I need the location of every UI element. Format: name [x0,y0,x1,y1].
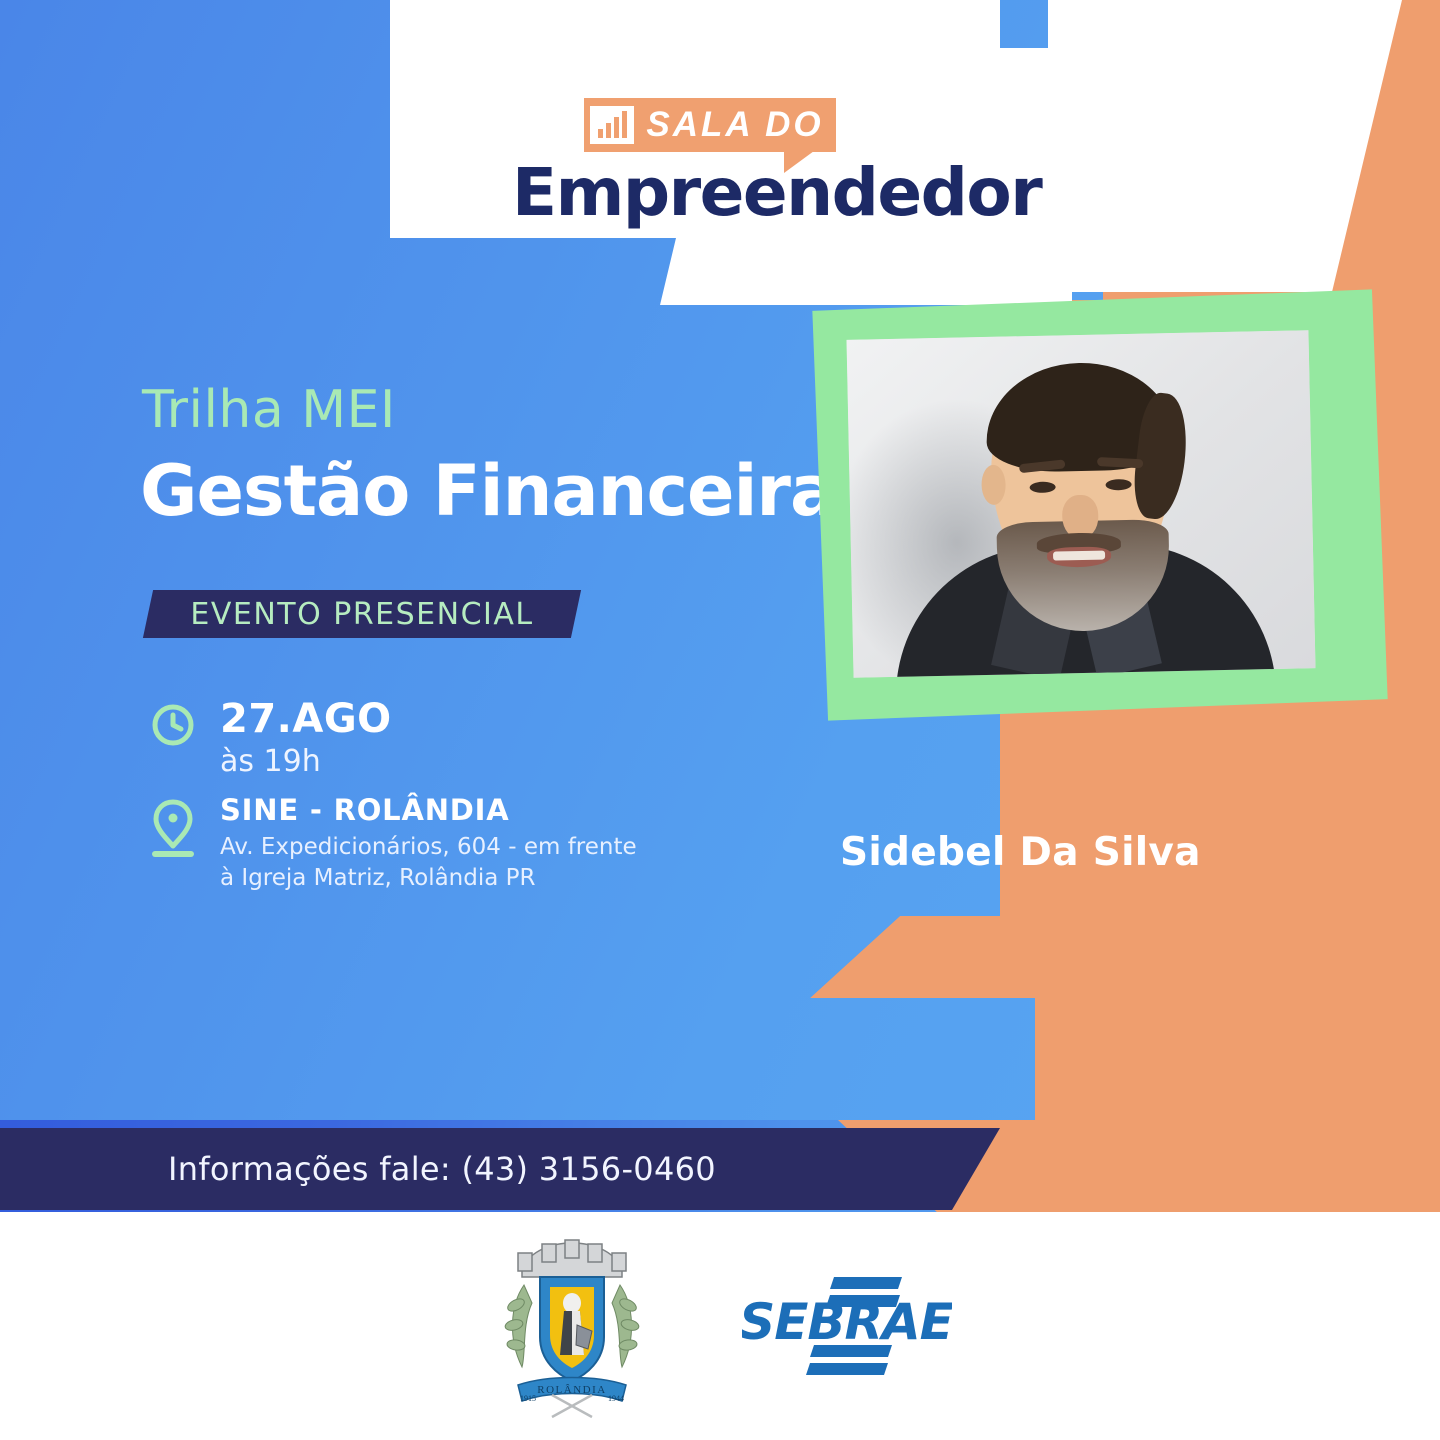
svg-text:ROLÂNDIA: ROLÂNDIA [537,1384,606,1396]
event-poster: SALA DO Empreendedor Trilha MEI Gestão F… [0,0,1440,1440]
svg-text:1915: 1915 [520,1394,536,1403]
logo-speech-bubble: SALA DO [584,98,836,152]
event-address-line-1: Av. Expedicionários, 604 - em frente [220,832,637,863]
svg-text:1944: 1944 [608,1394,624,1403]
event-location-block: SINE - ROLÂNDIA Av. Expedicionários, 604… [150,793,637,894]
bar-chart-icon [590,106,634,144]
sebrae-logo: SEBRAE [742,1267,952,1385]
event-format-badge: EVENTO PRESENCIAL [143,590,581,638]
map-pin-icon [150,793,210,864]
event-title: Gestão Financeira [140,450,836,532]
event-date-block: 27.AGO às 19h [150,698,392,779]
logo-wordmark: Empreendedor [512,154,942,231]
logo-badge-label: SALA DO [634,105,836,145]
event-address-line-2: à Igreja Matriz, Rolândia PR [220,863,637,894]
speaker-photo [847,330,1316,678]
rolandia-coat-of-arms: ROLÂNDIA 1915 1944 [488,1233,656,1419]
sala-do-empreendedor-logo: SALA DO Empreendedor [512,98,942,230]
svg-text:SEBRAE: SEBRAE [742,1293,952,1351]
event-format-badge-label: EVENTO PRESENCIAL [148,590,576,638]
event-time: às 19h [220,744,392,779]
speaker-name: Sidebel Da Silva [840,830,1201,875]
clock-icon [150,698,210,753]
footer-logos: ROLÂNDIA 1915 1944 SEBRAE [0,1212,1440,1440]
contact-phone-text: Informações fale: (43) 3156-0460 [168,1150,716,1188]
event-venue: SINE - ROLÂNDIA [220,793,637,827]
contact-bar: Informações fale: (43) 3156-0460 [0,1128,1000,1210]
event-series-label: Trilha MEI [142,380,396,440]
event-date: 27.AGO [220,698,392,740]
